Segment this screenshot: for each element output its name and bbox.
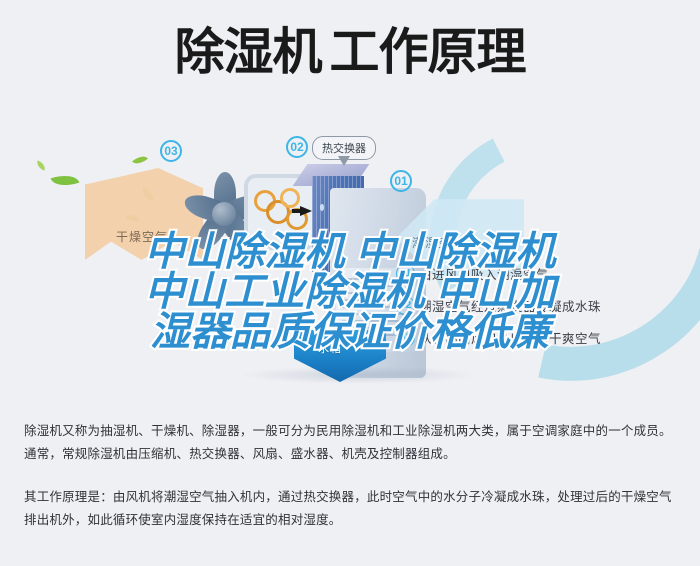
air-intake-vents-icon [342, 278, 404, 336]
dehumidifier-diagram: 干燥空气 潮湿空气 [0, 118, 700, 400]
description-text-2: 其工作原理是：由风机将潮湿空气抽入机内，通过热交换器，此时空气中的水分子冷凝成水… [24, 486, 680, 532]
callout-pointer-icon [338, 156, 350, 166]
coil-loop-icon [280, 188, 300, 208]
page-root: 除湿机工作原理 干燥空气 [0, 0, 700, 566]
humid-air-label: 潮湿空气 [412, 234, 464, 251]
legend-text-02: 潮湿空气经过蒸发器冷凝成水珠 [419, 300, 601, 314]
legend-number-02: 02 [396, 296, 415, 315]
dry-air-label: 干燥空气 [116, 228, 168, 245]
legend-item-02: 02潮湿空气经过蒸发器冷凝成水珠 [396, 296, 696, 315]
legend-item-01: 01由进风口吸入潮湿空气 [396, 264, 696, 283]
legend-number-03: 03 [396, 328, 415, 347]
legend-text-03: 从上部出风口吹出清新干爽空气 [419, 332, 601, 346]
leaf-icon [132, 152, 148, 167]
description-paragraph-2: 其工作原理是：由风机将潮湿空气抽入机内，通过热交换器，此时空气中的水分子冷凝成水… [24, 486, 680, 532]
flow-arrow-icon [300, 206, 312, 216]
fan-hub-icon [212, 202, 236, 226]
marker-03: 03 [160, 140, 182, 162]
marker-01: 01 [390, 170, 412, 192]
condensation-drop-icon [320, 204, 324, 211]
description-text-1: 除湿机又称为抽湿机、干燥机、除湿器，一般可分为民用除湿机和工业除湿机两大类，属于… [24, 420, 680, 466]
title-part-b: 工作原理 [330, 22, 526, 82]
leaf-icon [35, 160, 47, 170]
legend-text-01: 由进风口吸入潮湿空气 [419, 268, 549, 282]
legend-item-03: 03从上部出风口吹出清新干爽空气 [396, 328, 696, 347]
page-title: 除湿机工作原理 [0, 22, 700, 82]
leaf-icon [51, 170, 80, 190]
water-tank-label: 水箱 [318, 340, 342, 356]
marker-02: 02 [286, 136, 308, 158]
description-paragraph-1: 除湿机又称为抽湿机、干燥机、除湿器，一般可分为民用除湿机和工业除湿机两大类，属于… [24, 420, 680, 466]
legend-number-01: 01 [396, 264, 415, 283]
title-part-a: 除湿机 [175, 22, 322, 82]
